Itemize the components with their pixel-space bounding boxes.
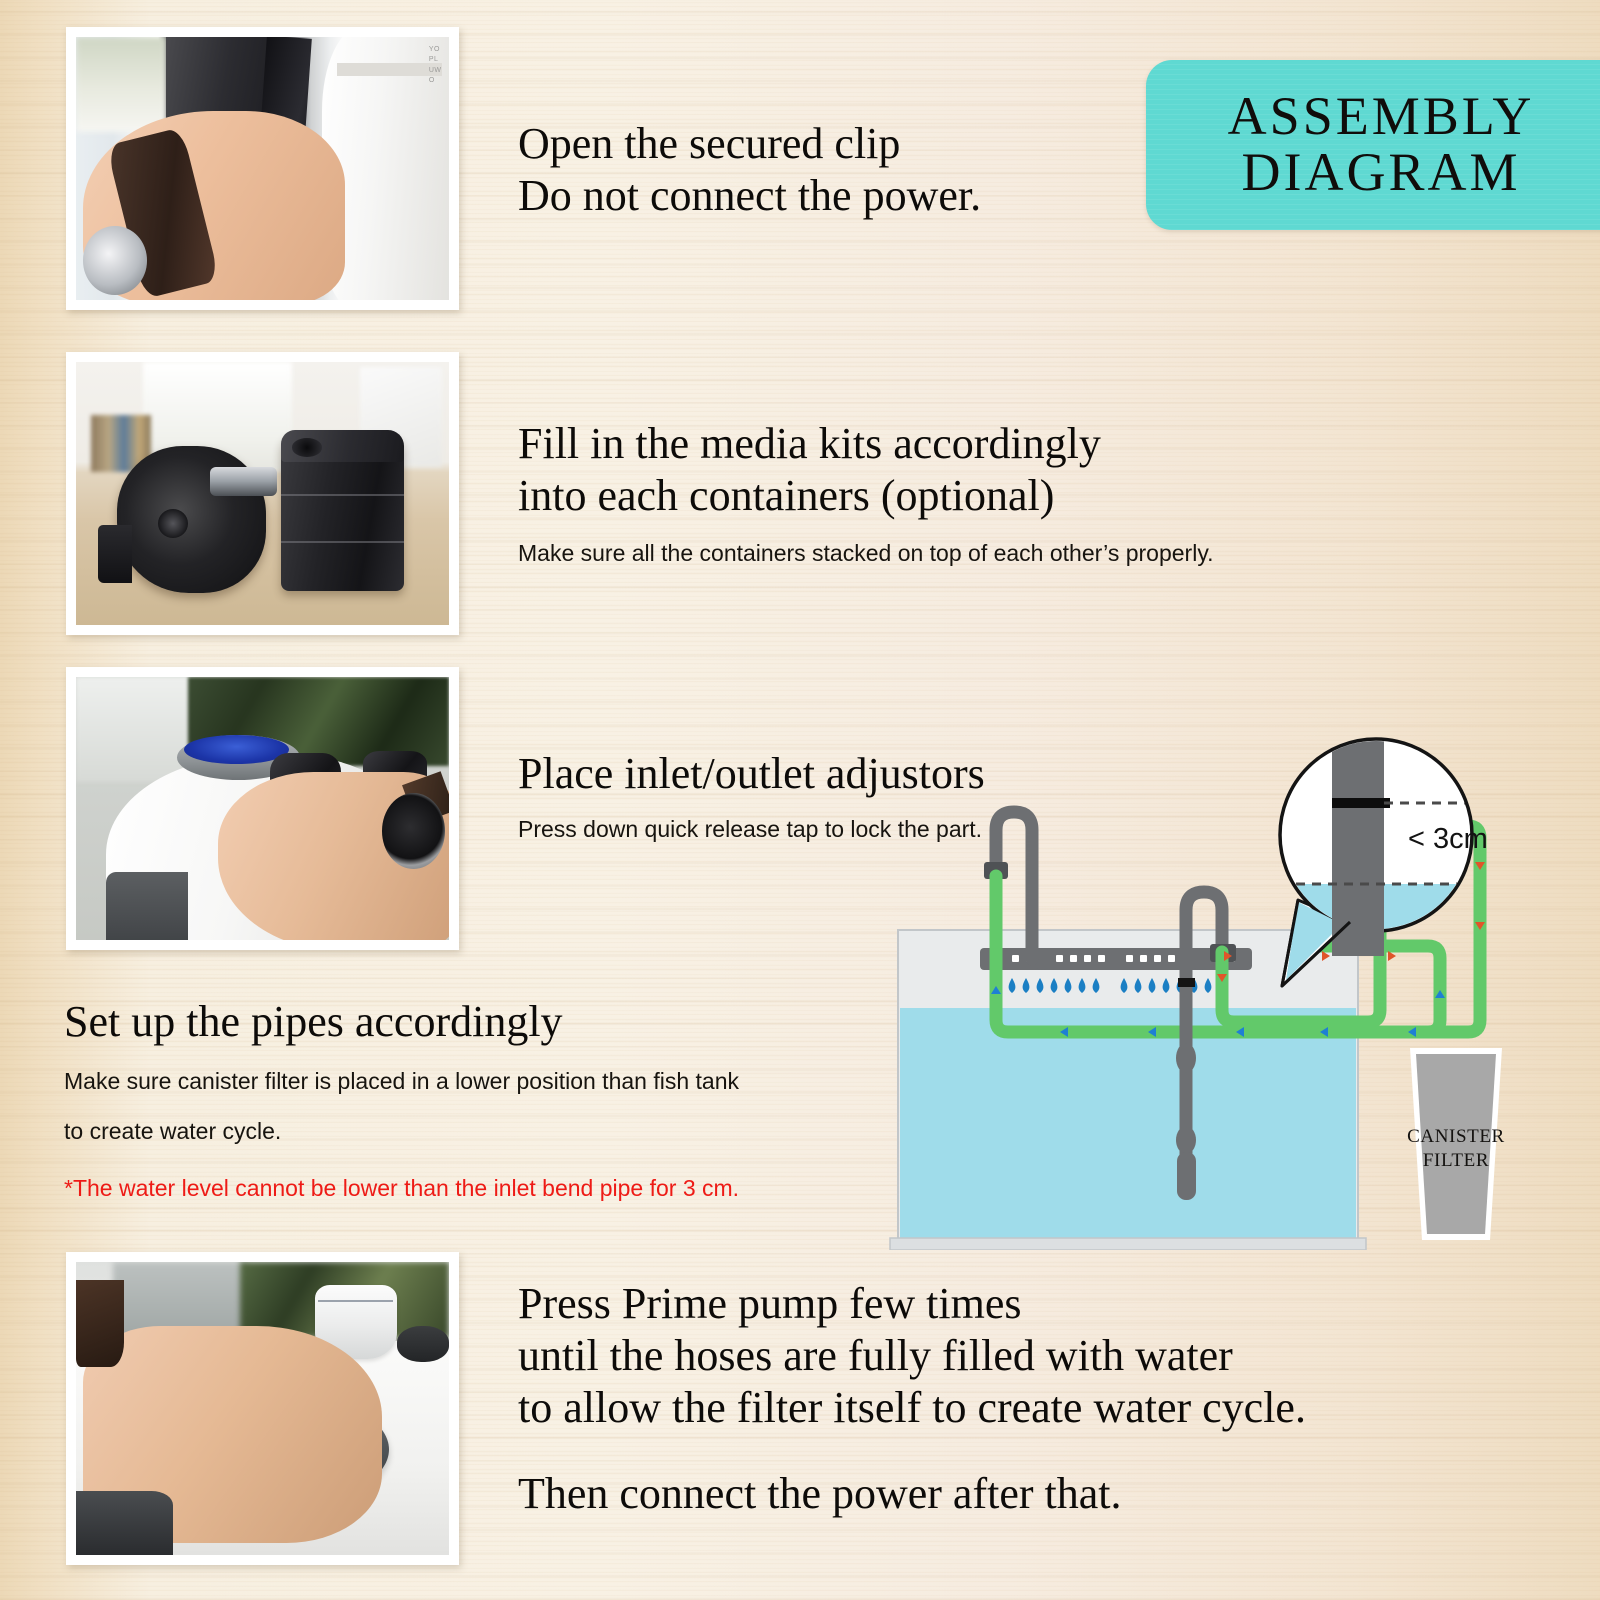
step-2-heading-line-1: Fill in the media kits accordingly (518, 418, 1214, 470)
step-2-photo-image (76, 362, 449, 625)
step-1-text-block: Open the secured clip Do not connect the… (518, 118, 981, 222)
step-2-text-block: Fill in the media kits accordingly into … (518, 418, 1214, 570)
watch-face (83, 226, 146, 294)
step-4-text-block: Set up the pipes accordingly Make sure c… (64, 996, 739, 1205)
step-5-photo (66, 1252, 459, 1565)
tank-base (890, 1238, 1366, 1250)
step-2-subtext: Make sure all the containers stacked on … (518, 536, 1214, 571)
inlet-pipe-joint (1176, 1043, 1196, 1073)
canister-filter-label-line-2: FILTER (1423, 1150, 1489, 1171)
step-4-subtext-line-1: Make sure canister filter is placed in a… (64, 1064, 739, 1099)
canister-filter-unit: CANISTER FILTER (1407, 1048, 1505, 1240)
step-5-text-block: Press Prime pump few times until the hos… (518, 1278, 1306, 1520)
step-5-heading-line-4: Then connect the power after that. (518, 1468, 1306, 1520)
step-4-heading: Set up the pipes accordingly (64, 996, 739, 1048)
filter-lid-handle (98, 525, 132, 583)
media-container-seam (281, 541, 404, 543)
aquarium-plumbing-diagram: CANISTER FILTER < 3cm (880, 690, 1600, 1250)
watch-strap (76, 1280, 124, 1368)
callout-tail-pipe (1332, 886, 1384, 956)
step-2-photo (66, 352, 459, 635)
step-2-heading-line-2: into each containers (optional) (518, 470, 1214, 522)
step-1-heading-line-2: Do not connect the power. (518, 170, 981, 222)
callout-measure-label: < 3cm (1408, 823, 1488, 855)
inlet-pipe-joint (1176, 1126, 1196, 1154)
canister-filter-base (106, 872, 188, 940)
step-1-photo-image: YOPLUWO (76, 37, 449, 300)
step-4-subtext-line-2: to create water cycle. (64, 1114, 739, 1149)
step-5-heading-line-3: to allow the filter itself to create wat… (518, 1382, 1306, 1434)
media-container-seam (281, 494, 404, 496)
filter-knob-line (318, 1300, 393, 1302)
banner-title-line-1: ASSEMBLY (1228, 89, 1535, 145)
inlet-water-level-mark (1178, 978, 1195, 987)
media-container-inlet-hole (292, 438, 322, 456)
filter-white-seam (337, 63, 441, 76)
step-1-photo: YOPLUWO (66, 27, 459, 310)
step-3-photo (66, 667, 459, 950)
step-1-heading-line-1: Open the secured clip (518, 118, 981, 170)
filter-lid-hub (158, 509, 188, 538)
banner-title-line-2: DIAGRAM (1241, 145, 1520, 201)
callout-pipe-mark (1332, 798, 1390, 808)
step-4-warning-text: *The water level cannot be lower than th… (64, 1171, 739, 1206)
tank-water (900, 1008, 1356, 1238)
photo-background-cabinet (76, 677, 192, 782)
watch-face (382, 793, 445, 869)
step-5-photo-image (76, 1262, 449, 1555)
filter-dark-base (76, 1491, 173, 1555)
assembly-diagram-title-banner: ASSEMBLY DIAGRAM (1146, 60, 1600, 230)
water-level-callout: < 3cm (1280, 734, 1488, 994)
step-3-photo-image (76, 677, 449, 940)
photo-background-shelf (76, 37, 166, 132)
fish-tank (890, 930, 1366, 1250)
product-sticker-text: YOPLUWO (429, 45, 442, 87)
canister-filter-label-line-1: CANISTER (1407, 1126, 1505, 1147)
step-5-heading-line-2: until the hoses are fully filled with wa… (518, 1330, 1306, 1382)
inlet-strainer (1177, 1152, 1196, 1200)
filter-lid-valve (210, 467, 277, 496)
step-5-heading-line-1: Press Prime pump few times (518, 1278, 1306, 1330)
filter-dark-pad (397, 1326, 449, 1361)
